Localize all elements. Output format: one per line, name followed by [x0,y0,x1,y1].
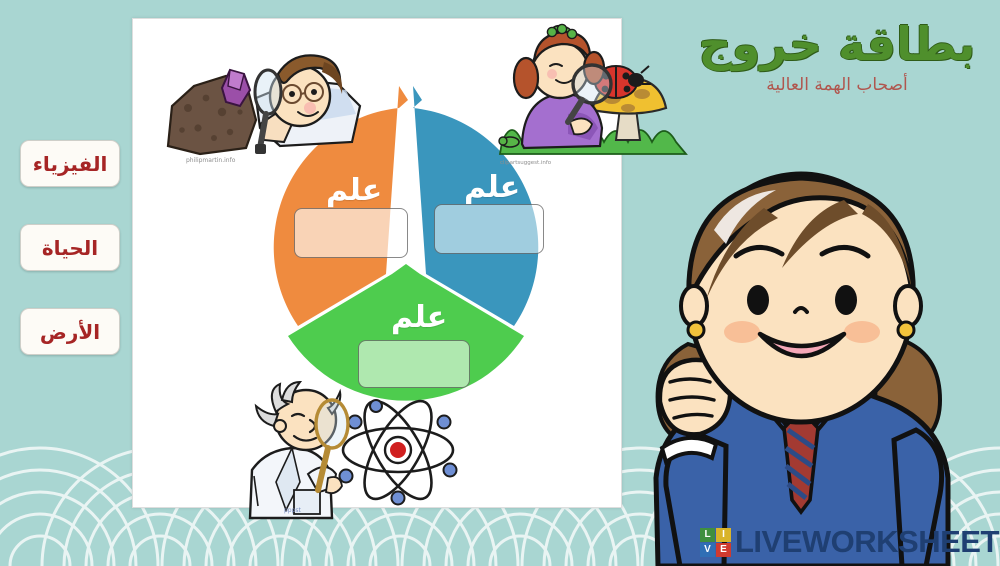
drag-card-earth[interactable]: الأرض [20,308,120,355]
drop-zone-life[interactable] [434,204,544,254]
liveworksheets-logo: L I V E LIVEWORKSHEETS [700,524,1000,560]
drag-card-label: الأرض [40,320,100,344]
girl-observing-ladybug-clipart: clipartsuggest.info [496,22,696,167]
geologist-with-rock-clipart: philipmartin.info [160,28,372,168]
logo-block-i: I [716,528,731,542]
svg-text:clipartsuggest.info: clipartsuggest.info [500,160,552,166]
drag-card-label: الفيزياء [33,152,108,176]
segment-label-physics: علم [391,300,447,335]
drag-card-label: الحياة [42,236,98,260]
drag-card-life[interactable]: الحياة [20,224,120,271]
svg-text:philipmartin.info: philipmartin.info [186,157,236,164]
logo-letter-blocks: L I V E [700,528,731,557]
drag-card-physics[interactable]: الفيزياء [20,140,120,187]
logo-block-e: E [716,543,731,557]
scientist-with-atom-clipart: pppst [248,378,473,523]
segment-label-life: علم [464,170,520,205]
logo-wordmark: LIVEWORKSHEETS [735,524,1000,560]
svg-text:pppst: pppst [284,507,302,514]
logo-block-l: L [700,528,715,542]
drop-zone-earth[interactable] [294,208,408,258]
word-bank-column: الفيزياء الحياة الأرض [20,140,120,355]
page-subtitle: أصحاب الهمة العالية [692,75,982,95]
logo-block-v: V [700,543,715,557]
segment-label-earth: علم [326,173,382,208]
page-title: بطاقة خروج [692,18,982,71]
schoolgirl-mascot [596,148,1000,566]
heading-block: بطاقة خروج أصحاب الهمة العالية [692,18,982,95]
